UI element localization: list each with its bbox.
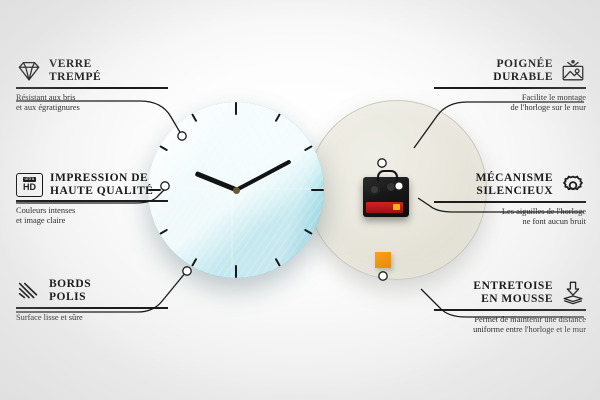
feature-header: VERRE TREMPÉ — [16, 58, 168, 84]
hour-marker — [236, 189, 324, 191]
hand-center-cap — [233, 187, 240, 194]
foam-spacer-pad — [375, 252, 391, 268]
aa-battery — [366, 202, 403, 213]
feature-title-line2: EN MOUSSE — [473, 293, 553, 306]
feature-desc-line2: uniforme entre l'horloge et le mur — [434, 325, 586, 336]
mechanism-dial-secondary — [387, 183, 395, 191]
wall-clock-front-view — [148, 102, 324, 278]
feature-description: Surface lisse et sûre — [16, 313, 168, 324]
feature-divider — [434, 309, 586, 311]
feature-divider — [16, 200, 168, 202]
feature-title-line1: VERRE — [49, 58, 101, 71]
feature-desc-line2: et aux égratignures — [16, 103, 168, 114]
feature-header: ENTRETOISE EN MOUSSE — [434, 280, 586, 306]
gear-icon — [560, 172, 586, 198]
mechanism-dial — [369, 184, 380, 195]
feature-entretoise-en-mousse: ENTRETOISE EN MOUSSE Permet de maintenir… — [434, 280, 586, 336]
feature-description: Facilite le montage de l'horloge sur le … — [434, 93, 586, 114]
feature-desc-line1: Facilite le montage — [434, 93, 586, 104]
feature-header: ultra HD IMPRESSION DE HAUTE QUALITÉ — [16, 172, 168, 197]
feature-title-line2: POLIS — [49, 291, 91, 304]
feature-verre-trempe: VERRE TREMPÉ Résistant aux bris et aux é… — [16, 58, 168, 114]
feature-title-line1: IMPRESSION DE — [50, 172, 153, 185]
feature-desc-line1: Surface lisse et sûre — [16, 313, 168, 324]
feature-title: MÉCANISME SILENCIEUX — [476, 172, 553, 197]
feature-title: IMPRESSION DE HAUTE QUALITÉ — [50, 172, 153, 197]
feature-impression-haute-qualite: ultra HD IMPRESSION DE HAUTE QUALITÉ Cou… — [16, 172, 168, 227]
feature-title: BORDS POLIS — [49, 278, 91, 303]
feature-description: Permet de maintenir une distance uniform… — [434, 315, 586, 336]
feature-desc-line1: Permet de maintenir une distance — [434, 315, 586, 326]
feature-description: Résistant aux bris et aux égratignures — [16, 93, 168, 114]
feature-title-line2: TREMPÉ — [49, 71, 101, 84]
feature-desc-line1: Couleurs intenses — [16, 206, 168, 217]
feature-divider — [16, 307, 168, 309]
feature-divider — [434, 201, 586, 203]
feature-mecanisme-silencieux: MÉCANISME SILENCIEUX Les aiguilles de l'… — [434, 172, 586, 228]
foam-spacer-icon — [560, 280, 586, 306]
feature-title-line2: HAUTE QUALITÉ — [50, 185, 153, 198]
battery-label — [393, 204, 400, 210]
feature-bords-polis: BORDS POLIS Surface lisse et sûre — [16, 278, 168, 323]
feature-divider — [434, 87, 586, 89]
feature-desc-line1: Résistant aux bris — [16, 93, 168, 104]
feature-desc-line2: et image claire — [16, 216, 168, 227]
feature-title: VERRE TREMPÉ — [49, 58, 101, 83]
feature-desc-line2: de l'horloge sur le mur — [434, 103, 586, 114]
hanger-hook — [377, 170, 398, 181]
feature-title: ENTRETOISE EN MOUSSE — [473, 280, 553, 305]
feature-title-line2: SILENCIEUX — [476, 185, 553, 198]
feature-header: MÉCANISME SILENCIEUX — [434, 172, 586, 198]
hour-marker — [235, 190, 237, 278]
feature-title-line2: DURABLE — [493, 71, 553, 84]
feature-description: Couleurs intenses et image claire — [16, 206, 168, 227]
picture-hanger-icon — [560, 58, 586, 84]
hour-marker — [235, 102, 237, 190]
feature-title-line1: ENTRETOISE — [473, 280, 553, 293]
diamond-icon — [16, 58, 42, 84]
feature-poignee-durable: POIGNÉE DURABLE Facilite le montage de l… — [434, 58, 586, 114]
polished-edges-icon — [16, 278, 42, 304]
feature-title: POIGNÉE DURABLE — [493, 58, 553, 83]
feature-description: Les aiguilles de l'horloge ne font aucun… — [434, 207, 586, 228]
feature-divider — [16, 87, 168, 89]
infographic-canvas: VERRE TREMPÉ Résistant aux bris et aux é… — [0, 0, 600, 400]
feature-header: POIGNÉE DURABLE — [434, 58, 586, 84]
feature-title-line1: POIGNÉE — [493, 58, 553, 71]
feature-desc-line2: ne font aucun bruit — [434, 217, 586, 228]
feature-title-line1: BORDS — [49, 278, 91, 291]
feature-desc-line1: Les aiguilles de l'horloge — [434, 207, 586, 218]
ultra-hd-badge-main: HD — [23, 183, 36, 192]
clock-mechanism-module — [363, 177, 409, 217]
feature-title-line1: MÉCANISME — [476, 172, 553, 185]
ultra-hd-icon: ultra HD — [16, 173, 43, 197]
feature-header: BORDS POLIS — [16, 278, 168, 304]
